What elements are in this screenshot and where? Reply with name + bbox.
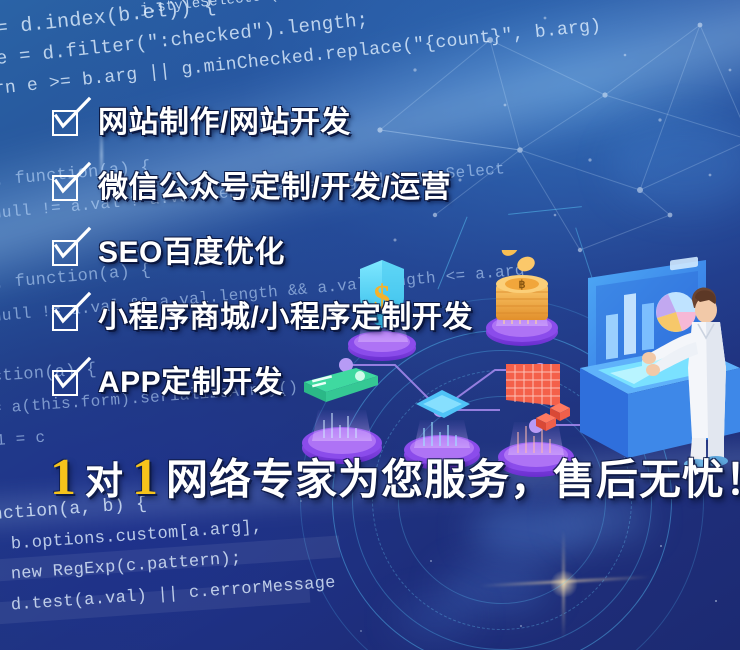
feature-list: 网站制作/网站开发 微信公众号定制/开发/运营 SEO百度优化: [52, 100, 692, 425]
headline-text: 网络专家为您服务，售后无忧！: [166, 457, 740, 503]
checked-box-icon[interactable]: [52, 173, 82, 203]
headline-number-second: 1: [132, 452, 158, 504]
code-line: 1 = c: [0, 429, 46, 450]
headline-conjunction: 对: [85, 460, 123, 504]
checked-box-icon[interactable]: [52, 238, 82, 268]
headline-slogan: 1 对 1 网络专家为您服务，售后无忧！: [50, 452, 740, 504]
feature-row-wechat[interactable]: 微信公众号定制/开发/运营: [52, 165, 692, 211]
checked-box-icon[interactable]: [52, 303, 82, 333]
feature-row-miniapp[interactable]: 小程序商城/小程序定制开发: [52, 295, 692, 341]
checked-box-icon[interactable]: [52, 368, 82, 398]
checked-box-icon[interactable]: [52, 108, 82, 138]
feature-row-seo[interactable]: SEO百度优化: [52, 230, 692, 276]
promo-banner: j.styleSelector("input[type=checkbox]",a…: [0, 0, 740, 650]
headline-number-first: 1: [50, 452, 76, 504]
feature-label: 网站制作/网站开发: [98, 106, 351, 140]
feature-row-website[interactable]: 网站制作/网站开发: [52, 100, 692, 146]
feature-label: SEO百度优化: [98, 236, 285, 270]
feature-label: APP定制开发: [98, 366, 283, 400]
feature-label: 微信公众号定制/开发/运营: [98, 171, 451, 205]
feature-row-app[interactable]: APP定制开发: [52, 360, 692, 406]
feature-label: 小程序商城/小程序定制开发: [98, 301, 473, 335]
